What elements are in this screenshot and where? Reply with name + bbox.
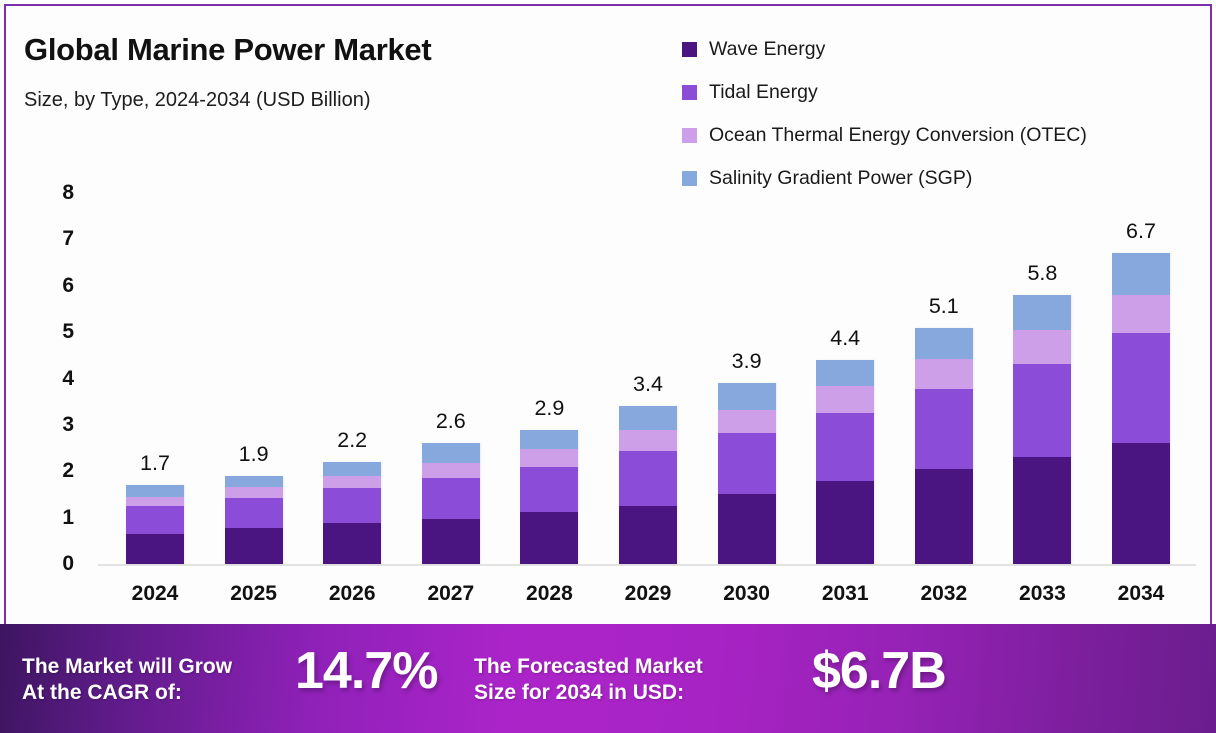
bar-segment[interactable] xyxy=(1013,364,1071,458)
bar-segment[interactable] xyxy=(520,467,578,512)
y-axis-tick: 4 xyxy=(34,367,74,391)
bar-segment[interactable] xyxy=(619,451,677,506)
bar-segment[interactable] xyxy=(520,449,578,467)
bar-segment[interactable] xyxy=(225,528,283,564)
x-axis-tick: 2034 xyxy=(1112,582,1170,606)
y-axis-tick: 0 xyxy=(34,552,74,576)
x-axis-tick: 2024 xyxy=(126,582,184,606)
bar-value-label: 6.7 xyxy=(1112,219,1170,244)
x-axis-tick: 2032 xyxy=(915,582,973,606)
stacked-bar[interactable] xyxy=(225,476,283,564)
bar-segment[interactable] xyxy=(422,478,480,519)
bar-segment[interactable] xyxy=(718,494,776,564)
y-axis-tick: 3 xyxy=(34,413,74,437)
bar-segment[interactable] xyxy=(225,487,283,497)
y-axis-tick: 8 xyxy=(34,181,74,205)
bar-segment[interactable] xyxy=(915,389,973,469)
bar-value-label: 3.9 xyxy=(718,349,776,374)
y-axis-tick: 5 xyxy=(34,320,74,344)
bar-segment[interactable] xyxy=(422,443,480,462)
summary-banner: The Market will Grow At the CAGR of: 14.… xyxy=(0,624,1216,733)
bar-segment[interactable] xyxy=(126,506,184,534)
bar-value-label: 5.1 xyxy=(915,294,973,319)
bar-segment[interactable] xyxy=(915,328,973,359)
stacked-bar[interactable] xyxy=(816,360,874,564)
bar-segment[interactable] xyxy=(1112,333,1170,443)
bar-segment[interactable] xyxy=(619,506,677,564)
stacked-bar[interactable] xyxy=(1013,295,1071,564)
bar-value-label: 2.2 xyxy=(323,428,381,453)
bar-group[interactable]: 4.4 xyxy=(816,242,874,564)
bar-value-label: 2.9 xyxy=(520,396,578,421)
y-axis-tick: 1 xyxy=(34,506,74,530)
bar-segment[interactable] xyxy=(126,485,184,497)
bar-group[interactable]: 2.9 xyxy=(520,312,578,564)
bar-segment[interactable] xyxy=(619,430,677,451)
bar-segment[interactable] xyxy=(323,488,381,523)
bar-group[interactable]: 3.9 xyxy=(718,265,776,564)
cagr-value: 14.7% xyxy=(295,641,437,701)
bar-segment[interactable] xyxy=(520,430,578,449)
plot-area: 0123456781.720241.920252.220262.620272.9… xyxy=(6,6,1214,622)
infographic-root: Global Marine Power Market Size, by Type… xyxy=(0,0,1216,733)
y-axis-tick: 7 xyxy=(34,227,74,251)
stacked-bar[interactable] xyxy=(718,383,776,564)
bar-segment[interactable] xyxy=(126,534,184,564)
bar-value-label: 1.7 xyxy=(126,451,184,476)
bar-value-label: 1.9 xyxy=(225,442,283,467)
y-axis-tick: 6 xyxy=(34,274,74,298)
bar-segment[interactable] xyxy=(718,383,776,409)
bar-segment[interactable] xyxy=(1112,253,1170,295)
bar-group[interactable]: 5.8 xyxy=(1013,177,1071,564)
bar-group[interactable]: 6.7 xyxy=(1112,135,1170,564)
y-axis-tick: 2 xyxy=(34,459,74,483)
stacked-bar[interactable] xyxy=(915,328,973,565)
x-axis-tick: 2026 xyxy=(323,582,381,606)
bar-segment[interactable] xyxy=(323,523,381,564)
bar-segment[interactable] xyxy=(816,386,874,413)
bar-value-label: 5.8 xyxy=(1013,261,1071,286)
bar-segment[interactable] xyxy=(225,476,283,488)
x-axis-tick: 2027 xyxy=(422,582,480,606)
stacked-bar[interactable] xyxy=(126,485,184,564)
bar-segment[interactable] xyxy=(619,406,677,430)
cagr-caption: The Market will Grow At the CAGR of: xyxy=(22,654,232,706)
bar-segment[interactable] xyxy=(915,469,973,564)
chart-card: Global Marine Power Market Size, by Type… xyxy=(4,4,1212,624)
bar-segment[interactable] xyxy=(718,433,776,495)
x-axis-line xyxy=(98,564,1196,566)
bar-segment[interactable] xyxy=(1112,443,1170,564)
bar-value-label: 4.4 xyxy=(816,326,874,351)
stacked-bar[interactable] xyxy=(520,430,578,564)
bar-segment[interactable] xyxy=(422,519,480,564)
bar-group[interactable]: 1.9 xyxy=(225,358,283,564)
bar-segment[interactable] xyxy=(915,359,973,390)
bar-segment[interactable] xyxy=(816,360,874,386)
x-axis-tick: 2033 xyxy=(1013,582,1071,606)
bar-group[interactable]: 2.2 xyxy=(323,344,381,564)
bar-segment[interactable] xyxy=(422,463,480,478)
x-axis-tick: 2025 xyxy=(225,582,283,606)
bar-segment[interactable] xyxy=(1013,295,1071,330)
bar-segment[interactable] xyxy=(1013,457,1071,564)
bar-value-label: 3.4 xyxy=(619,372,677,397)
x-axis-tick: 2029 xyxy=(619,582,677,606)
forecast-value: $6.7B xyxy=(812,641,946,701)
bar-segment[interactable] xyxy=(323,476,381,489)
x-axis-tick: 2028 xyxy=(520,582,578,606)
bar-value-label: 2.6 xyxy=(422,409,480,434)
bar-group[interactable]: 1.7 xyxy=(126,367,184,564)
bar-segment[interactable] xyxy=(126,497,184,506)
bar-segment[interactable] xyxy=(1112,295,1170,333)
bar-group[interactable]: 5.1 xyxy=(915,210,973,565)
bar-group[interactable]: 3.4 xyxy=(619,288,677,564)
stacked-bar[interactable] xyxy=(323,462,381,564)
forecast-caption: The Forecasted Market Size for 2034 in U… xyxy=(474,654,703,706)
bar-segment[interactable] xyxy=(225,498,283,528)
stacked-bar[interactable] xyxy=(422,443,480,564)
bar-segment[interactable] xyxy=(323,462,381,476)
x-axis-tick: 2030 xyxy=(718,582,776,606)
x-axis-tick: 2031 xyxy=(816,582,874,606)
bar-segment[interactable] xyxy=(816,413,874,481)
bar-segment[interactable] xyxy=(816,481,874,564)
bar-segment[interactable] xyxy=(520,512,578,564)
stacked-bar[interactable] xyxy=(1112,253,1170,564)
stacked-bar[interactable] xyxy=(619,406,677,564)
bar-group[interactable]: 2.6 xyxy=(422,325,480,564)
bar-segment[interactable] xyxy=(1013,330,1071,364)
bar-segment[interactable] xyxy=(718,410,776,433)
